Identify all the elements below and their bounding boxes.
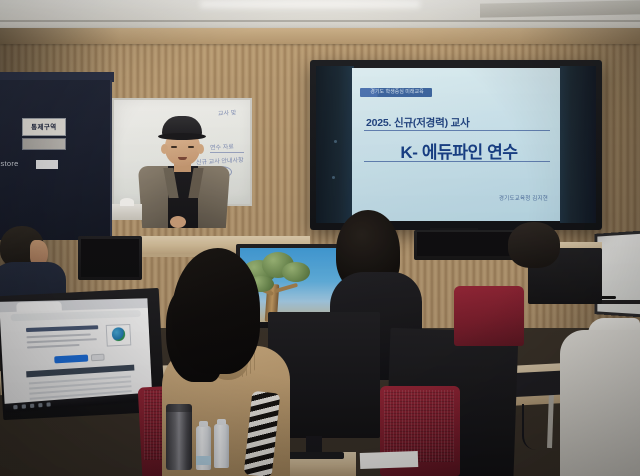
page-text-line-2 [27,338,97,343]
classroom-photo: 통제구역 dstore 교사 맞 연수 자료 신규 교사 안내사항 중요 경기도… [0,0,640,476]
slide-rule-bottom [364,161,550,162]
secondary-notice-sign [22,138,66,150]
taskbar-start-icon[interactable] [13,405,17,409]
presenter-ear-left [161,144,168,154]
desk-leg-right [547,392,554,448]
presenter-cap-brim [158,133,206,140]
restricted-area-sign-label: 통제구역 [31,122,57,131]
slide-footer: 경기도교육청 김지현 [499,194,548,202]
page-heading [26,325,98,332]
ceiling-seam [0,20,640,22]
attendee-tan-sweater-hair [172,248,260,374]
display-left-dark-area [316,66,354,223]
browser-tab[interactable] [16,301,62,311]
water-bottle-1-label [196,456,211,465]
page-text-line-1 [26,333,90,338]
water-bottle-2-cap [217,419,226,425]
wallpaper-tree-canopy-3 [282,262,310,282]
secondary-button[interactable] [91,354,105,362]
taskbar-search-icon[interactable] [22,404,26,408]
monitor-center-base [288,452,344,459]
tissue-box [112,204,142,220]
presenter-eye-right [188,146,194,148]
display-sensor-led [334,140,337,143]
page-text-line-3 [27,344,80,349]
taskbar-explorer-icon[interactable] [38,403,42,407]
presenter-instructor [138,116,230,228]
attendee-right-white-head [508,222,560,268]
desk-cable [522,404,542,450]
water-bottle-1-cap [199,421,208,427]
presenter-eye-left [171,146,177,148]
paper-note-front [360,451,419,469]
tissue-sheet [120,198,134,206]
water-bottle-2 [214,424,229,468]
whiteboard-marker [600,296,616,299]
slide-title: K- 에듀파인 연수 [366,138,552,163]
browser-window[interactable] [0,298,152,412]
brand-chip [36,160,58,169]
display-screen[interactable]: 경기도 학생중심 미래교육 2025. 신규(저경력) 교사 K- 에듀파인 연… [352,68,560,221]
black-tumbler [166,408,192,470]
monitor-back-left-screen[interactable] [81,239,139,277]
slide-org-logo-label: 경기도 학생중심 미래교육 [360,87,434,97]
presenter-ear-right [197,144,204,154]
download-button[interactable] [54,355,88,364]
display-right-dark-area [560,66,596,223]
browser-address-bar[interactable] [10,310,140,321]
black-tumbler-lid [166,404,192,412]
ceiling-light [200,0,420,8]
slide-rule-top [364,130,550,131]
restricted-area-sign: 통제구역 [22,118,66,136]
display-sensor-led-2 [332,176,335,179]
chair-back-right [454,286,524,346]
presenter-hands [170,216,186,228]
taskbar-app-icon[interactable] [46,402,50,406]
attendee-right-white-body [560,330,640,476]
taskbar-browser-icon[interactable] [30,404,34,408]
slide-subtitle: 2025. 신규(저경력) 교사 [366,115,552,130]
